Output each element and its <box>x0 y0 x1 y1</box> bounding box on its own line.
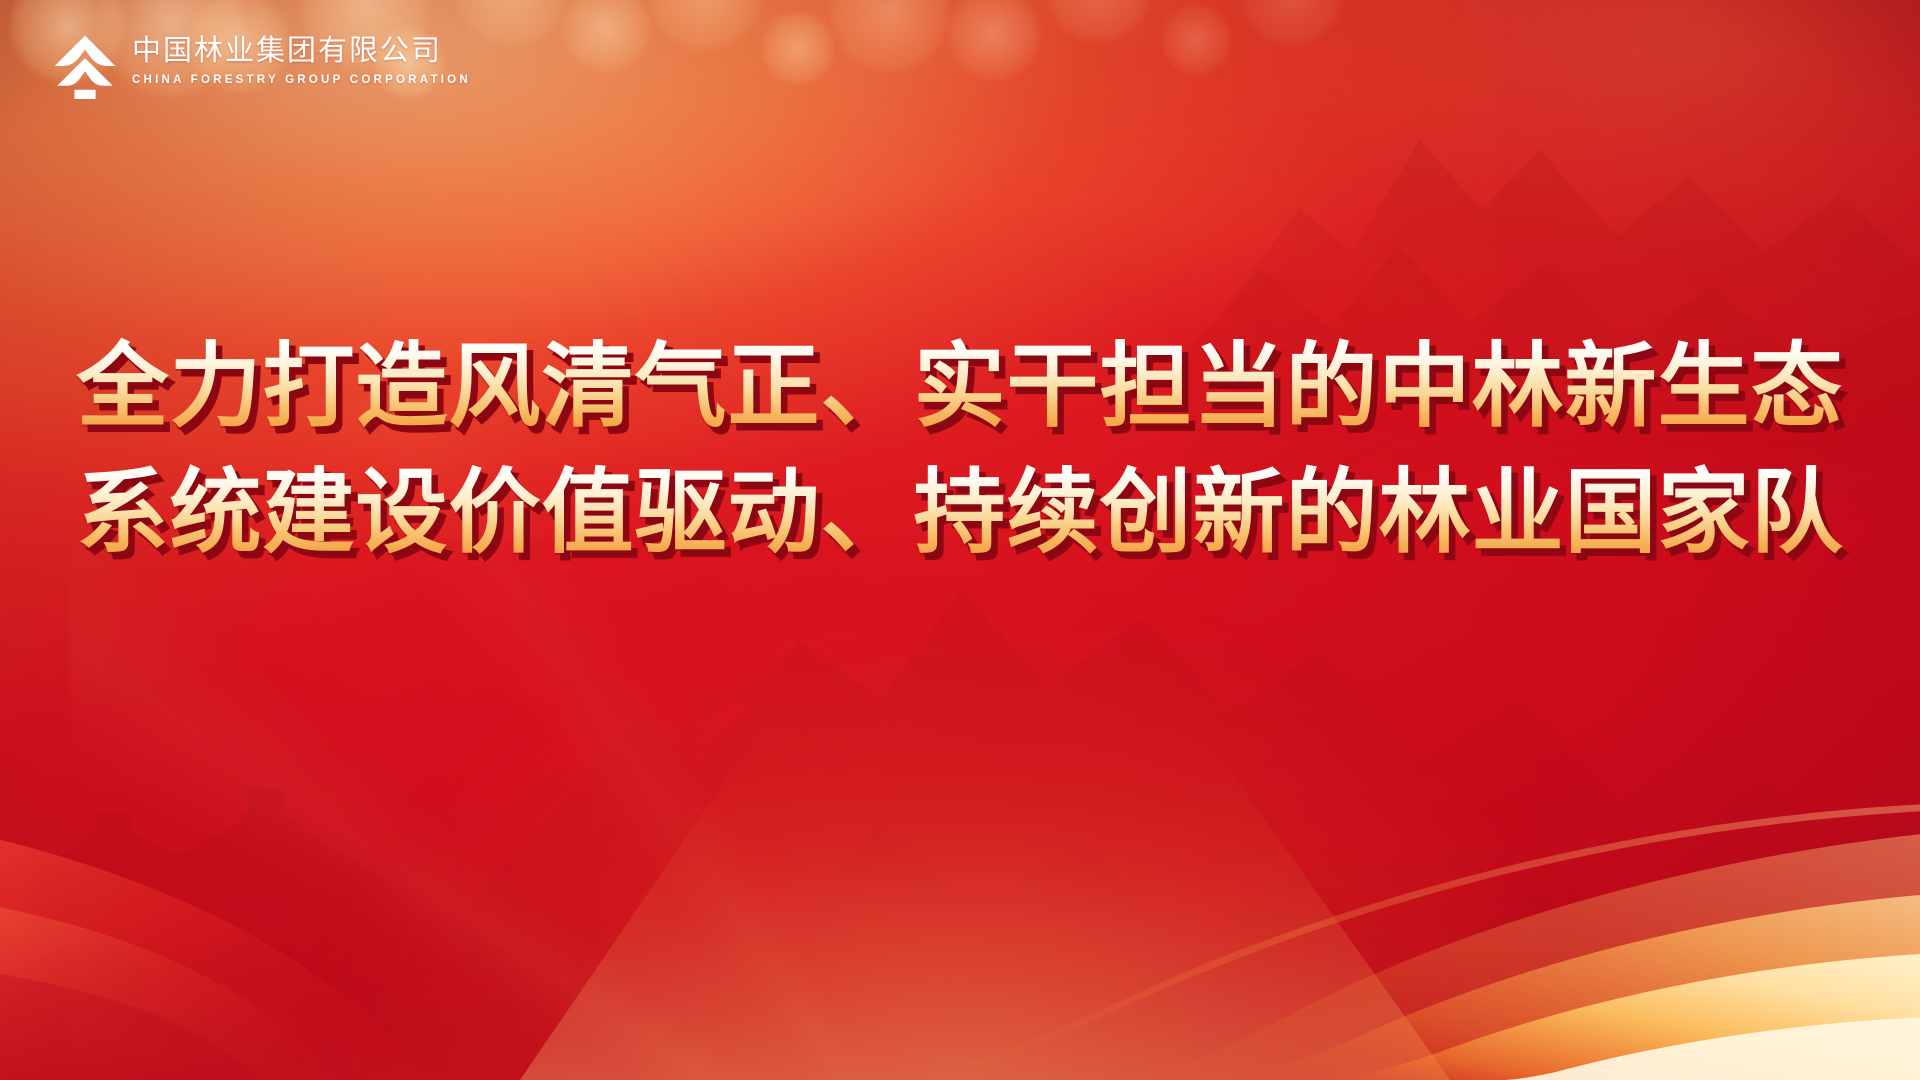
poster-canvas: 中国林业集团有限公司 CHINA FORESTRY GROUP CORPORAT… <box>0 0 1920 1080</box>
pagoda-mountain-icon <box>52 33 118 99</box>
brand-name-en: CHINA FORESTRY GROUP CORPORATION <box>132 74 471 87</box>
brand-name-cn: 中国林业集团有限公司 <box>132 36 471 67</box>
headline-line-1-text: 全力打造风清气正、实干担当的中林新生态 <box>76 333 1843 440</box>
headline-line-1: 全力打造风清气正、实干担当的中林新生态 全力打造风清气正、实干担当的中林新生态 <box>76 338 1843 436</box>
brand-logo[interactable]: 中国林业集团有限公司 CHINA FORESTRY GROUP CORPORAT… <box>52 32 471 99</box>
brand-wordmark: 中国林业集团有限公司 CHINA FORESTRY GROUP CORPORAT… <box>132 32 471 87</box>
headline-line-2-text: 系统建设价值驱动、持续创新的林业国家队 <box>76 459 1843 566</box>
headline-line-2: 系统建设价值驱动、持续创新的林业国家队 系统建设价值驱动、持续创新的林业国家队 <box>76 464 1843 562</box>
headline-block: 全力打造风清气正、实干担当的中林新生态 全力打造风清气正、实干担当的中林新生态 … <box>0 338 1920 561</box>
